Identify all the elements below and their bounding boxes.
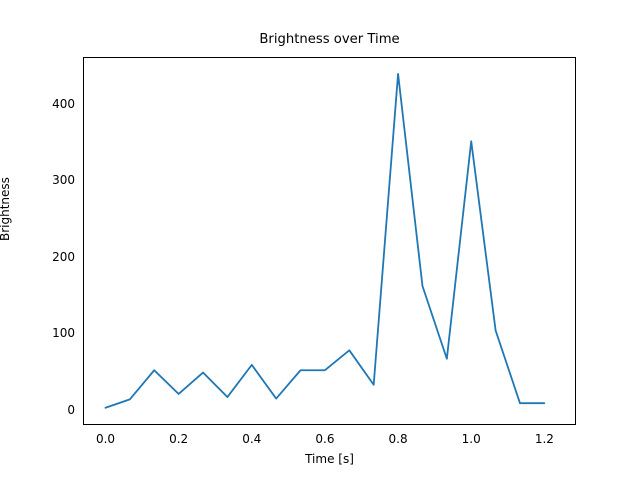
x-axis-label: Time [s] [83, 452, 576, 466]
x-tick-label: 0.2 [169, 432, 188, 446]
plot-canvas [83, 57, 576, 425]
x-tick-label: 0.6 [315, 432, 334, 446]
x-tick-label: 0.4 [242, 432, 261, 446]
y-tick-label: 400 [15, 97, 75, 111]
x-tick-label: 1.2 [535, 432, 554, 446]
matplotlib-figure: Brightness over Time 0100200300400 0.00.… [0, 0, 640, 480]
chart-title: Brightness over Time [83, 32, 576, 48]
y-tick-label: 0 [15, 403, 75, 417]
axes-spines [84, 58, 576, 425]
x-tick-label: 0.8 [389, 432, 408, 446]
y-tick-label: 300 [15, 173, 75, 187]
x-tick-label: 0.0 [96, 432, 115, 446]
x-tick-label: 1.0 [462, 432, 481, 446]
y-tick-label: 100 [15, 326, 75, 340]
y-axis-label: Brightness [0, 177, 12, 241]
y-tick-label: 200 [15, 250, 75, 264]
plot-axes: 0100200300400 0.00.20.40.60.81.01.2 [83, 57, 576, 425]
